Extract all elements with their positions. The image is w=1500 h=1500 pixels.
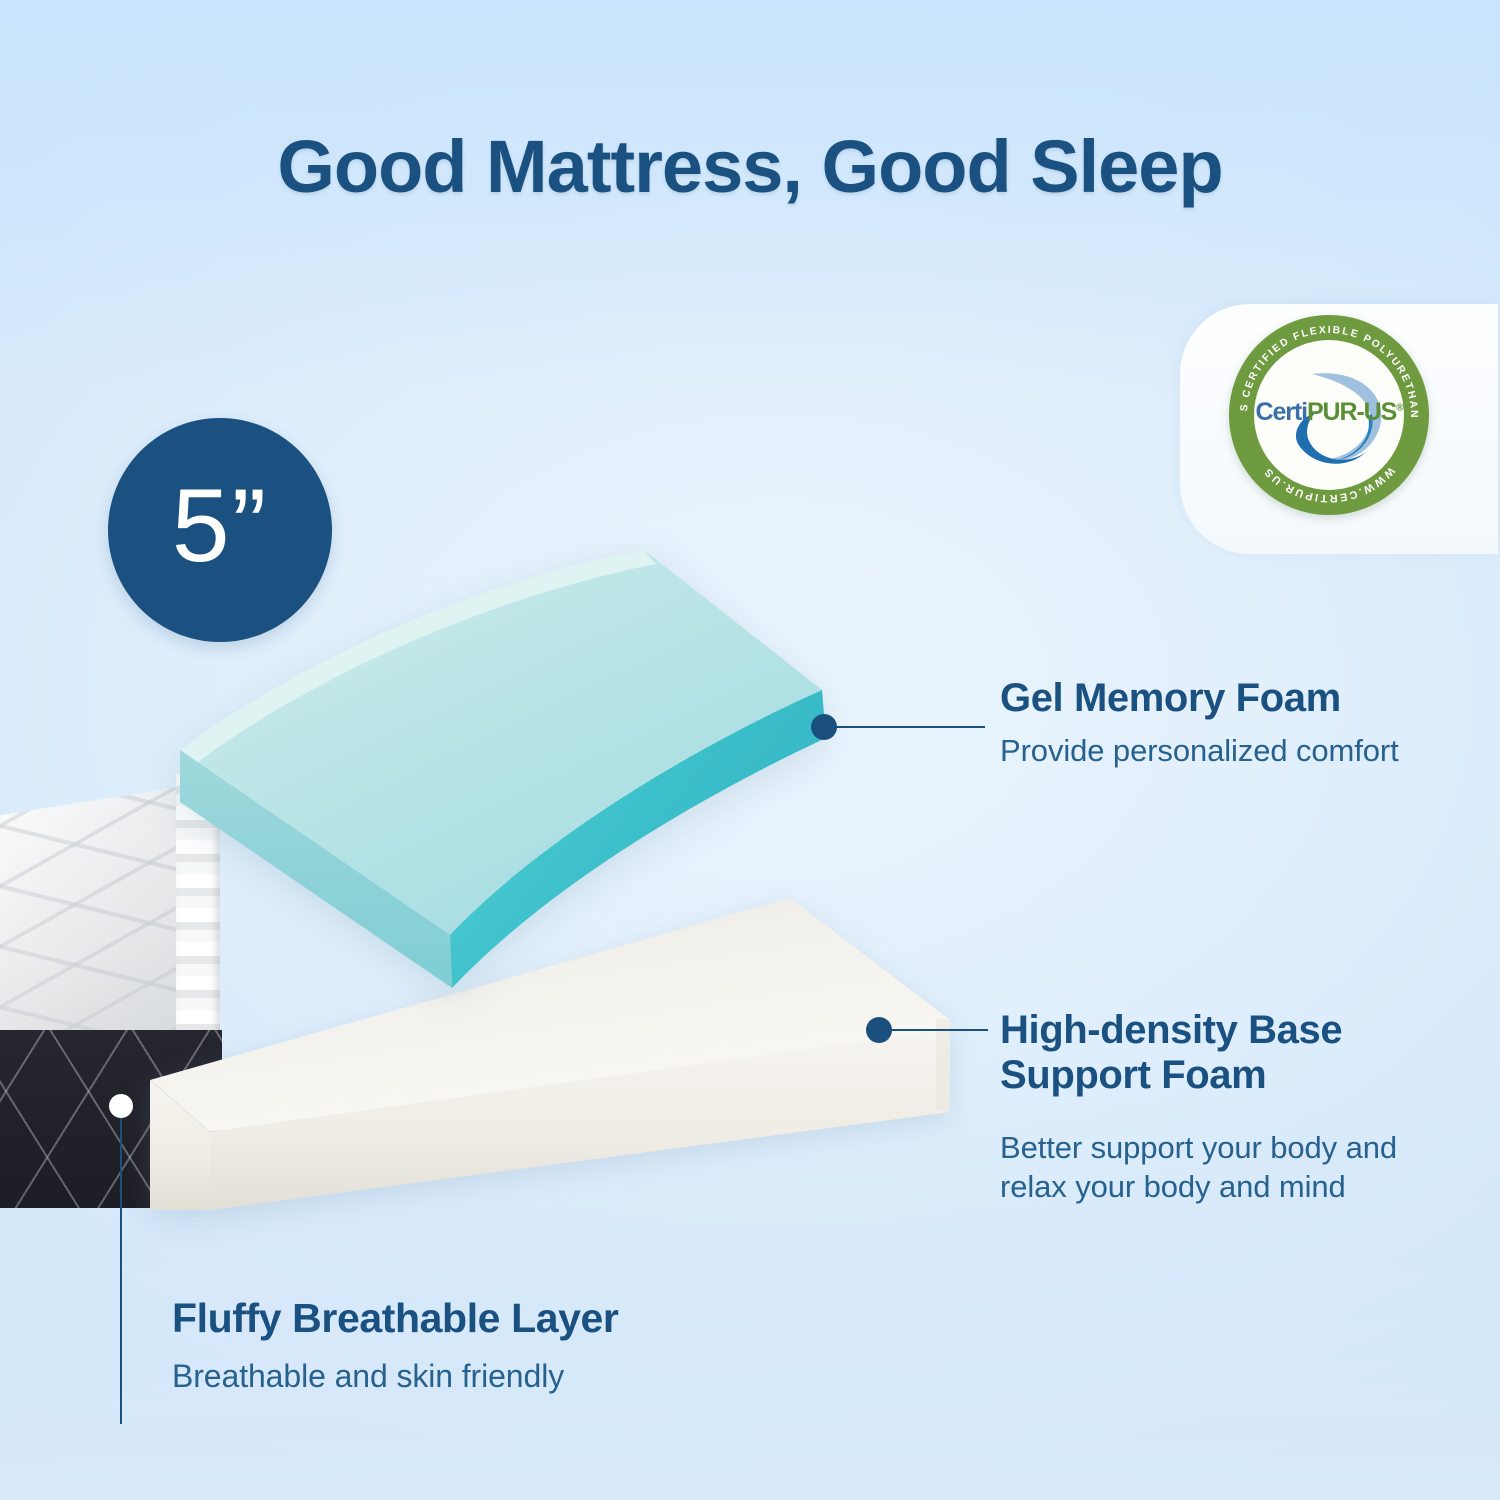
thickness-badge-value: 5”	[172, 474, 268, 578]
infographic-canvas: Good Mattress, Good Sleep 5” CONTAINS CE…	[0, 0, 1500, 1500]
base-callout-dot	[866, 1017, 892, 1043]
callout-base-description: Better support your body and relax your …	[1000, 1128, 1460, 1207]
callout-gel-memory-foam: Gel Memory Foam Provide personalized com…	[1000, 676, 1470, 770]
certipur-seal-ring: CONTAINS CERTIFIED FLEXIBLE POLYURETHANE…	[1229, 315, 1429, 515]
callout-fluffy-breathable-layer: Fluffy Breathable Layer Breathable and s…	[172, 1296, 872, 1397]
registered-mark-icon: ®	[1396, 403, 1402, 414]
gel-callout-dot	[811, 714, 837, 740]
callout-fluffy-description: Breathable and skin friendly	[172, 1356, 872, 1397]
fluffy-callout-dot	[109, 1094, 133, 1118]
callout-base-heading: High-density Base Support Foam	[1000, 1008, 1460, 1098]
certipur-wordmark-part1: Certi	[1256, 398, 1307, 426]
fluffy-callout-line	[120, 1112, 122, 1424]
certipur-wordmark: CertiPUR-US®	[1254, 398, 1404, 427]
certipur-wordmark-part2: PUR-US	[1307, 398, 1396, 426]
base-callout-line	[888, 1029, 988, 1031]
thickness-badge: 5”	[108, 418, 332, 642]
page-title: Good Mattress, Good Sleep	[0, 128, 1500, 206]
callout-base-support-foam: High-density Base Support Foam Better su…	[1000, 1008, 1460, 1207]
callout-gel-heading: Gel Memory Foam	[1000, 676, 1470, 721]
callout-fluffy-heading: Fluffy Breathable Layer	[172, 1296, 872, 1342]
callout-gel-description: Provide personalized comfort	[1000, 731, 1470, 771]
gel-callout-line	[833, 726, 985, 728]
certipur-us-badge: CONTAINS CERTIFIED FLEXIBLE POLYURETHANE…	[1180, 304, 1498, 554]
certipur-core: CertiPUR-US®	[1254, 340, 1404, 490]
